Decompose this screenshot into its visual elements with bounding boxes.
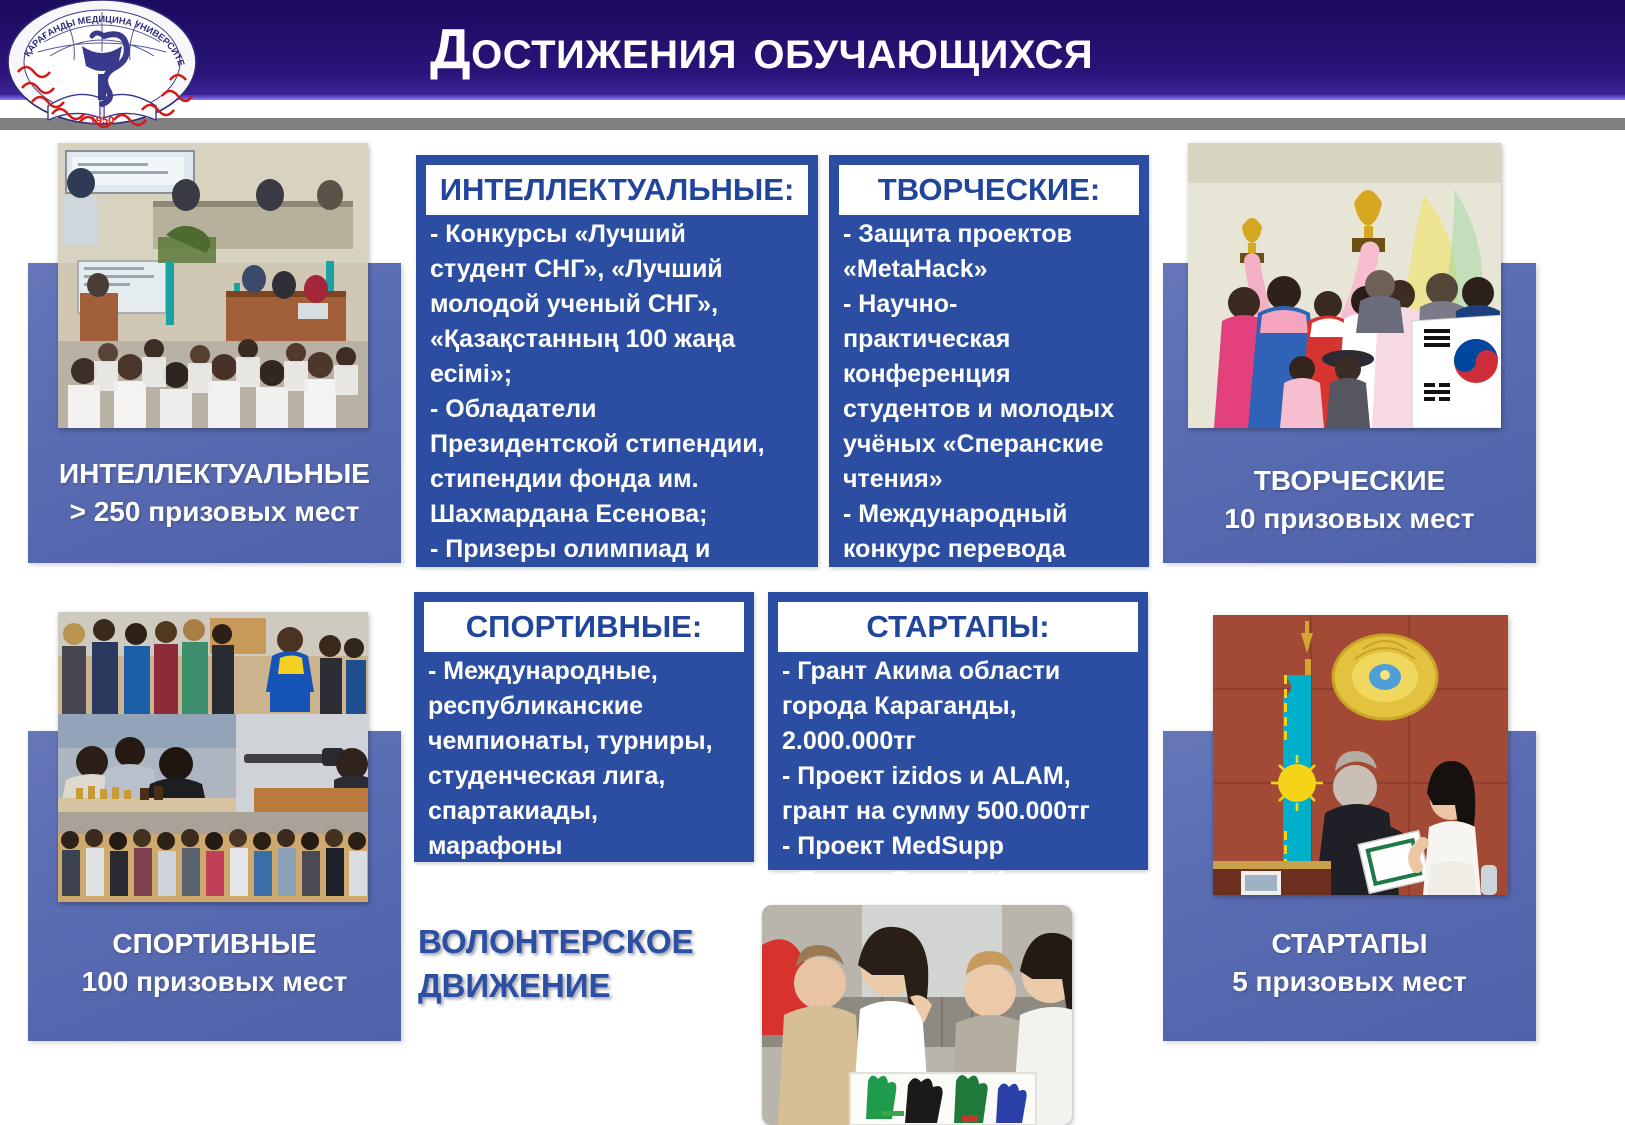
box-line: 2.000.000тг	[782, 724, 1138, 759]
box-line: учёных «Сперанские	[843, 427, 1139, 462]
photo-conference-hall	[58, 143, 368, 428]
grey-divider-bar	[0, 118, 1625, 130]
card-startups-title: СТАРТАПЫ	[1163, 925, 1536, 963]
logo-svg: ҚАРАҒАНДЫ МЕДИЦИНА УНИВЕРСИТЕТІ 1950	[4, 0, 200, 130]
card-intellectual-title: ИНТЕЛЛЕКТУАЛЬНЫЕ	[28, 455, 401, 493]
box-line: - Конкурсы «Лучший	[430, 217, 808, 252]
box-line: города Караганды,	[782, 689, 1138, 724]
box-line: стипендии фонда им.	[430, 462, 808, 497]
box-sports-heading: СПОРТИВНЫЕ:	[424, 602, 744, 652]
card-intellectual-caption: ИНТЕЛЛЕКТУАЛЬНЫЕ > 250 призовых мест	[28, 455, 401, 531]
box-line: Шахмардана Есенова;	[430, 497, 808, 532]
volunteer-movement-label: ВОЛОНТЕРСКОЕ ДВИЖЕНИЕ	[418, 920, 748, 1008]
box-line: Президентской стипендии,	[430, 427, 808, 462]
box-creative-heading: ТВОРЧЕСКИЕ:	[839, 165, 1139, 215]
card-sports-caption: СПОРТИВНЫЕ 100 призовых мест	[28, 925, 401, 1001]
photo-korean-culture-award-art	[1188, 143, 1501, 428]
photo-volunteers-art	[762, 905, 1072, 1125]
box-line: - Международные,	[428, 654, 744, 689]
box-line: есімі»;	[430, 357, 808, 392]
box-line: «Қазақстанның 100 жаңа	[430, 322, 808, 357]
card-sports-title: СПОРТИВНЫЕ	[28, 925, 401, 963]
photo-volunteers-with-children	[762, 905, 1072, 1125]
card-startups-caption: СТАРТАПЫ 5 призовых мест	[1163, 925, 1536, 1001]
box-line: студент СНГ», «Лучший	[430, 252, 808, 287]
box-line: конференция	[843, 357, 1139, 392]
box-line: - Проект Ecosolution	[782, 864, 1138, 899]
box-intellectual: ИНТЕЛЛЕКТУАЛЬНЫЕ: - Конкурсы «Лучший сту…	[416, 155, 818, 567]
box-startups-body: - Грант Акима области города Караганды, …	[782, 654, 1138, 899]
box-line: - Грант Акима области	[782, 654, 1138, 689]
box-line: студентов и молодых	[843, 392, 1139, 427]
box-sports: СПОРТИВНЫЕ: - Международные, республикан…	[414, 592, 754, 862]
box-intellectual-body: - Конкурсы «Лучший студент СНГ», «Лучший…	[430, 217, 808, 602]
volunteer-line-2: ДВИЖЕНИЕ	[418, 964, 748, 1008]
card-creative-count: 10 призовых мест	[1163, 500, 1536, 538]
box-line: грант на сумму 500.000тг	[782, 794, 1138, 829]
header-underline	[0, 95, 1625, 100]
box-line: - Проект MedSupp	[782, 829, 1138, 864]
volunteer-line-1: ВОЛОНТЕРСКОЕ	[418, 920, 748, 964]
box-line: - Научно-	[843, 287, 1139, 322]
photo-korean-culture-award	[1188, 143, 1501, 428]
photo-sports-collage-art	[58, 612, 368, 902]
box-startups-heading: СТАРТАПЫ:	[778, 602, 1138, 652]
box-line: практическая	[843, 322, 1139, 357]
card-creative-caption: ТВОРЧЕСКИЕ 10 призовых мест	[1163, 462, 1536, 538]
card-sports-count: 100 призовых мест	[28, 963, 401, 1001]
karaganda-medical-university-logo: ҚАРАҒАНДЫ МЕДИЦИНА УНИВЕРСИТЕТІ 1950	[4, 0, 200, 130]
box-sports-body: - Международные, республиканские чемпион…	[428, 654, 744, 864]
box-line: республиканские	[428, 689, 744, 724]
box-creative: ТВОРЧЕСКИЕ: - Защита проектов «MetaHack»…	[829, 155, 1149, 567]
card-intellectual-count: > 250 призовых мест	[28, 493, 401, 531]
box-line: чтения»	[843, 462, 1139, 497]
box-line: - Проект izidos и ALAM,	[782, 759, 1138, 794]
box-line: - Обладатели	[430, 392, 808, 427]
photo-award-ceremony	[1213, 615, 1508, 895]
box-line: - Международный	[843, 497, 1139, 532]
box-startups: СТАРТАПЫ: - Грант Акима области города К…	[768, 592, 1148, 870]
slide-root: Достижения обучающихся	[0, 0, 1625, 1125]
box-line: молодой ученый СНГ»,	[430, 287, 808, 322]
photo-sports-collage	[58, 612, 368, 902]
photo-award-ceremony-art	[1213, 615, 1508, 895]
photo-conference-hall-art	[58, 143, 368, 428]
box-line: «MetaHack»	[843, 252, 1139, 287]
box-line: студенческая лига,	[428, 759, 744, 794]
box-line: марафоны	[428, 829, 744, 864]
card-startups-count: 5 призовых мест	[1163, 963, 1536, 1001]
box-creative-body: - Защита проектов «MetaHack» - Научно- п…	[843, 217, 1139, 567]
logo-year: 1950	[90, 115, 114, 127]
box-line: - Призеры олимпиад и	[430, 532, 808, 567]
box-line: - Защита проектов	[843, 217, 1139, 252]
card-creative-title: ТВОРЧЕСКИЕ	[1163, 462, 1536, 500]
box-intellectual-heading: ИНТЕЛЛЕКТУАЛЬНЫЕ:	[426, 165, 808, 215]
box-line: чемпионаты, турниры,	[428, 724, 744, 759]
page-title: Достижения обучающихся	[430, 10, 1430, 90]
box-line: спартакиады,	[428, 794, 744, 829]
box-line: конкурс перевода	[843, 532, 1139, 567]
